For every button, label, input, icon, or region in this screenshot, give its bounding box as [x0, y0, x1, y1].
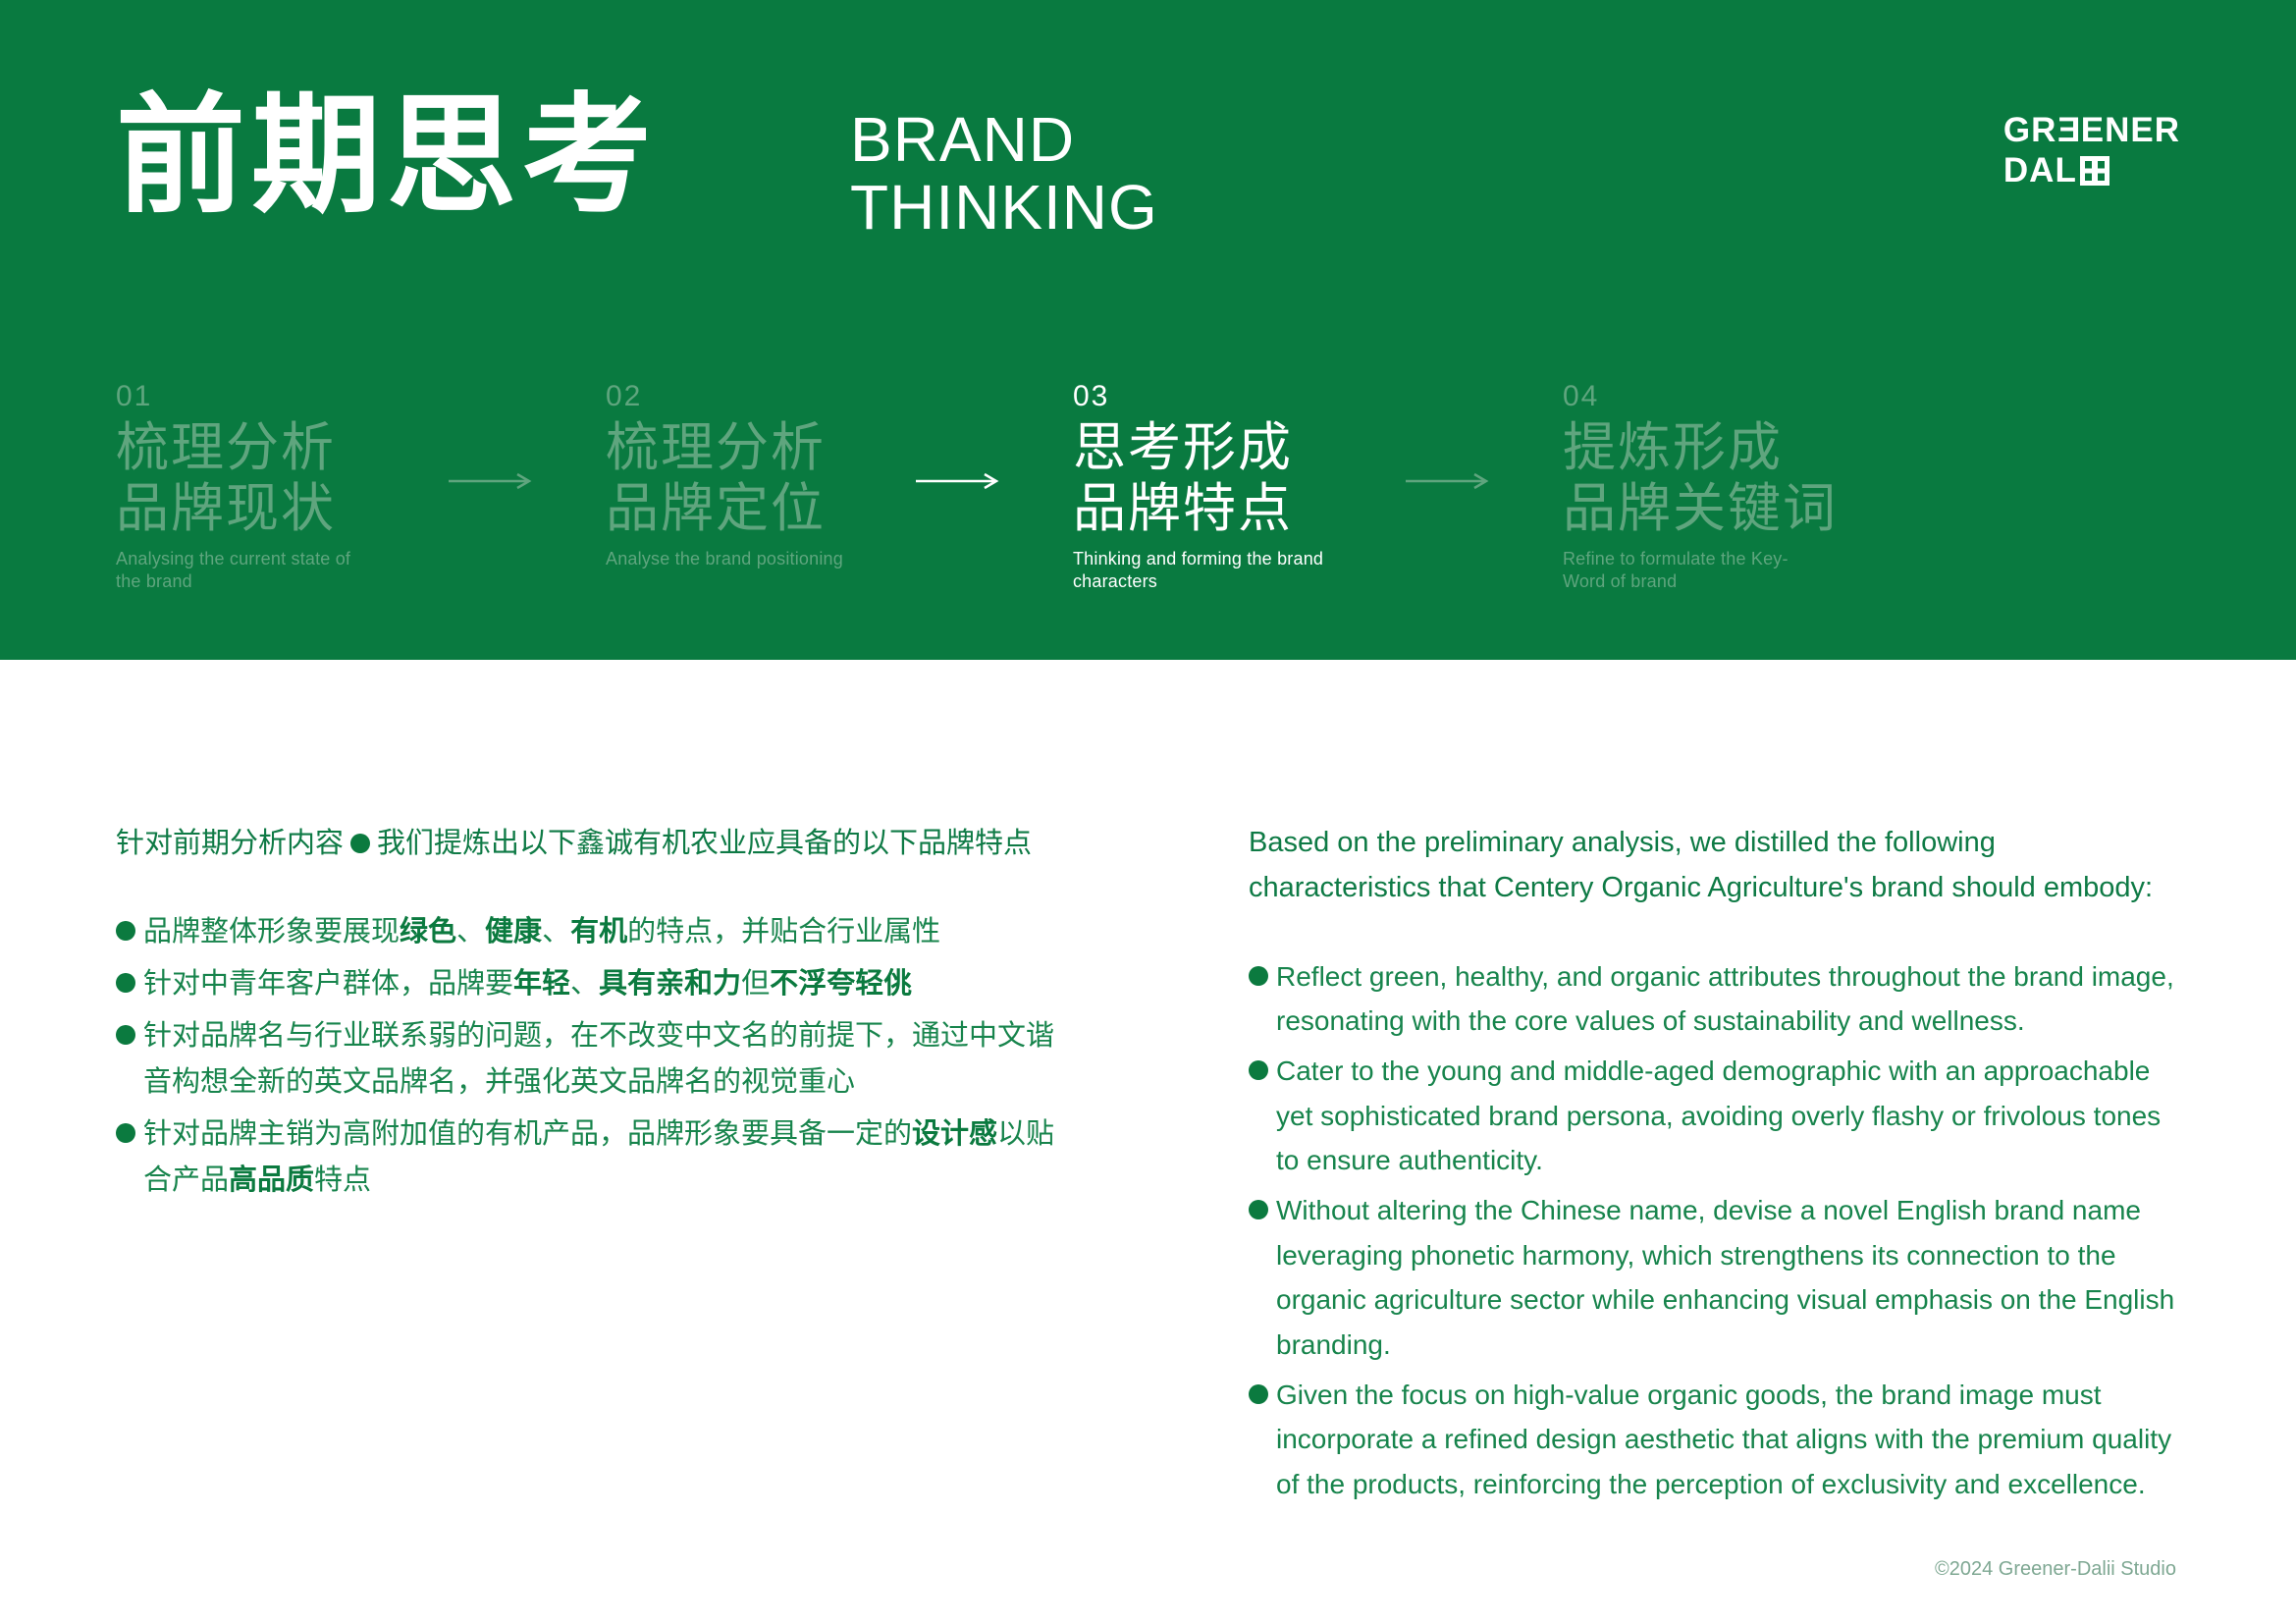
- emphasis-text: 不浮夸轻佻: [770, 968, 912, 1000]
- step-02-title-cn: 梳理分析 品牌定位: [606, 418, 843, 539]
- plain-text: 针对品牌主销为高附加值的有机产品，品牌形象要具备一定的: [143, 1118, 912, 1150]
- plain-text: 、: [570, 968, 599, 1000]
- plain-text: 针对品牌名与行业联系弱的问题，在不改变中文名的前提下，通过中文谐音构想全新的英文…: [143, 1020, 1054, 1098]
- logo-text-dal: DAL: [2003, 150, 2077, 190]
- english-bullet-item: Reflect green, healthy, and organic attr…: [1249, 954, 2181, 1044]
- english-lead-line: Based on the preliminary analysis, we di…: [1249, 821, 2181, 911]
- bullet-dot-icon: [116, 1025, 135, 1045]
- bullet-dot-icon: [350, 834, 370, 853]
- step-04[interactable]: 04 提炼形成 品牌关键词 Refine to formulate the Ke…: [1563, 379, 1838, 592]
- step-02-number: 02: [606, 379, 843, 414]
- plain-text: 特点: [314, 1164, 371, 1196]
- bullet-dot-icon: [116, 1123, 135, 1143]
- footer-copyright: ©2024 Greener-Dalii Studio: [1935, 1558, 2176, 1581]
- process-steps: 01 梳理分析 品牌现状 Analysing the current state…: [116, 379, 1883, 592]
- step-01[interactable]: 01 梳理分析 品牌现状 Analysing the current state…: [116, 379, 376, 592]
- step-01-title-en: Analysing the current state of the brand: [116, 548, 376, 592]
- logo-line-1: GREENER: [2003, 110, 2180, 150]
- chinese-column: 针对前期分析内容 我们提炼出以下鑫诚有机农业应具备的以下品牌特点 品牌整体形象要…: [116, 821, 1058, 1210]
- bullet-dot-icon: [116, 973, 135, 993]
- bullet-dot-icon: [116, 921, 135, 941]
- bullet-dot-icon: [1249, 1200, 1268, 1219]
- logo-text-ener: ENER: [2081, 110, 2180, 150]
- step-03-number: 03: [1073, 379, 1333, 414]
- english-bullet-item: Without altering the Chinese name, devis…: [1249, 1188, 2181, 1366]
- content-area: 针对前期分析内容 我们提炼出以下鑫诚有机农业应具备的以下品牌特点 品牌整体形象要…: [0, 660, 2296, 1624]
- chinese-bullet-item: 针对品牌主销为高附加值的有机产品，品牌形象要具备一定的设计感以贴合产品高品质特点: [116, 1111, 1058, 1204]
- bullet-dot-icon: [1249, 966, 1268, 986]
- emphasis-text: 设计感: [912, 1118, 997, 1150]
- chinese-bullet-text: 品牌整体形象要展现绿色、健康、有机的特点，并贴合行业属性: [143, 909, 940, 955]
- plain-text: 但: [741, 968, 770, 1000]
- chinese-bullet-list: 品牌整体形象要展现绿色、健康、有机的特点，并贴合行业属性针对中青年客户群体，品牌…: [116, 909, 1058, 1204]
- chinese-bullet-text: 针对中青年客户群体，品牌要年轻、具有亲和力但不浮夸轻佻: [143, 961, 912, 1007]
- plain-text: 的特点，并贴合行业属性: [627, 916, 940, 947]
- page-title-cn: 前期思考: [116, 86, 658, 227]
- logo-reversed-e-icon: E: [2056, 110, 2080, 150]
- step-03[interactable]: 03 思考形成 品牌特点 Thinking and forming the br…: [1073, 379, 1333, 592]
- step-04-title-cn: 提炼形成 品牌关键词: [1563, 418, 1838, 539]
- hero-banner: 前期思考 BRAND THINKING GREENER DAL 01 梳理分析 …: [0, 0, 2296, 660]
- emphasis-text: 具有亲和力: [599, 968, 741, 1000]
- step-04-title-en: Refine to formulate the Key-Word of bran…: [1563, 548, 1823, 592]
- plain-text: 、: [542, 916, 570, 947]
- step-01-title-cn: 梳理分析 品牌现状: [116, 418, 376, 539]
- chinese-bullet-text: 针对品牌名与行业联系弱的问题，在不改变中文名的前提下，通过中文谐音构想全新的英文…: [143, 1013, 1058, 1106]
- arrow-right-icon-1: [449, 481, 533, 485]
- english-bullet-text: Given the focus on high-value organic go…: [1276, 1373, 2181, 1506]
- english-bullet-text: Reflect green, healthy, and organic attr…: [1276, 954, 2181, 1044]
- plain-text: 针对中青年客户群体，品牌要: [143, 968, 513, 1000]
- step-02-title-en: Analyse the brand positioning: [606, 548, 843, 570]
- chinese-bullet-item: 针对中青年客户群体，品牌要年轻、具有亲和力但不浮夸轻佻: [116, 961, 1058, 1007]
- ii-box-mark-icon: [2080, 156, 2109, 186]
- chinese-bullet-item: 品牌整体形象要展现绿色、健康、有机的特点，并贴合行业属性: [116, 909, 1058, 955]
- arrow-right-icon-3: [1406, 481, 1490, 485]
- english-bullet-text: Cater to the young and middle-aged demog…: [1276, 1049, 2181, 1182]
- english-bullet-list: Reflect green, healthy, and organic attr…: [1249, 954, 2181, 1506]
- bullet-dot-icon: [1249, 1384, 1268, 1404]
- english-bullet-item: Cater to the young and middle-aged demog…: [1249, 1049, 2181, 1182]
- hero-title-row: 前期思考 BRAND THINKING: [116, 86, 1158, 242]
- emphasis-text: 绿色: [400, 916, 456, 947]
- plain-text: 、: [456, 916, 485, 947]
- english-bullet-item: Given the focus on high-value organic go…: [1249, 1373, 2181, 1506]
- emphasis-text: 有机: [570, 916, 627, 947]
- page-title-en: BRAND THINKING: [850, 106, 1158, 242]
- step-01-number: 01: [116, 379, 376, 414]
- plain-text: 品牌整体形象要展现: [143, 916, 400, 947]
- english-column: Based on the preliminary analysis, we di…: [1249, 821, 2181, 1512]
- emphasis-text: 年轻: [513, 968, 570, 1000]
- chinese-lead-line: 针对前期分析内容 我们提炼出以下鑫诚有机农业应具备的以下品牌特点: [116, 821, 1058, 866]
- logo-line-2: DAL: [2003, 150, 2180, 190]
- chinese-bullet-text: 针对品牌主销为高附加值的有机产品，品牌形象要具备一定的设计感以贴合产品高品质特点: [143, 1111, 1058, 1204]
- logo-text-gr: GR: [2003, 110, 2057, 150]
- chinese-lead-before: 针对前期分析内容: [116, 821, 344, 866]
- brand-logo[interactable]: GREENER DAL: [2003, 110, 2180, 191]
- step-02[interactable]: 02 梳理分析 品牌定位 Analyse the brand positioni…: [606, 379, 843, 570]
- step-03-title-cn: 思考形成 品牌特点: [1073, 418, 1333, 539]
- chinese-bullet-item: 针对品牌名与行业联系弱的问题，在不改变中文名的前提下，通过中文谐音构想全新的英文…: [116, 1013, 1058, 1106]
- emphasis-text: 健康: [485, 916, 542, 947]
- step-04-number: 04: [1563, 379, 1838, 414]
- emphasis-text: 高品质: [229, 1164, 314, 1196]
- step-03-title-en: Thinking and forming the brand character…: [1073, 548, 1333, 592]
- bullet-dot-icon: [1249, 1060, 1268, 1080]
- arrow-right-icon-2: [916, 481, 1000, 485]
- english-bullet-text: Without altering the Chinese name, devis…: [1276, 1188, 2181, 1366]
- chinese-lead-after: 我们提炼出以下鑫诚有机农业应具备的以下品牌特点: [377, 821, 1032, 866]
- slide-page: 前期思考 BRAND THINKING GREENER DAL 01 梳理分析 …: [0, 0, 2296, 1624]
